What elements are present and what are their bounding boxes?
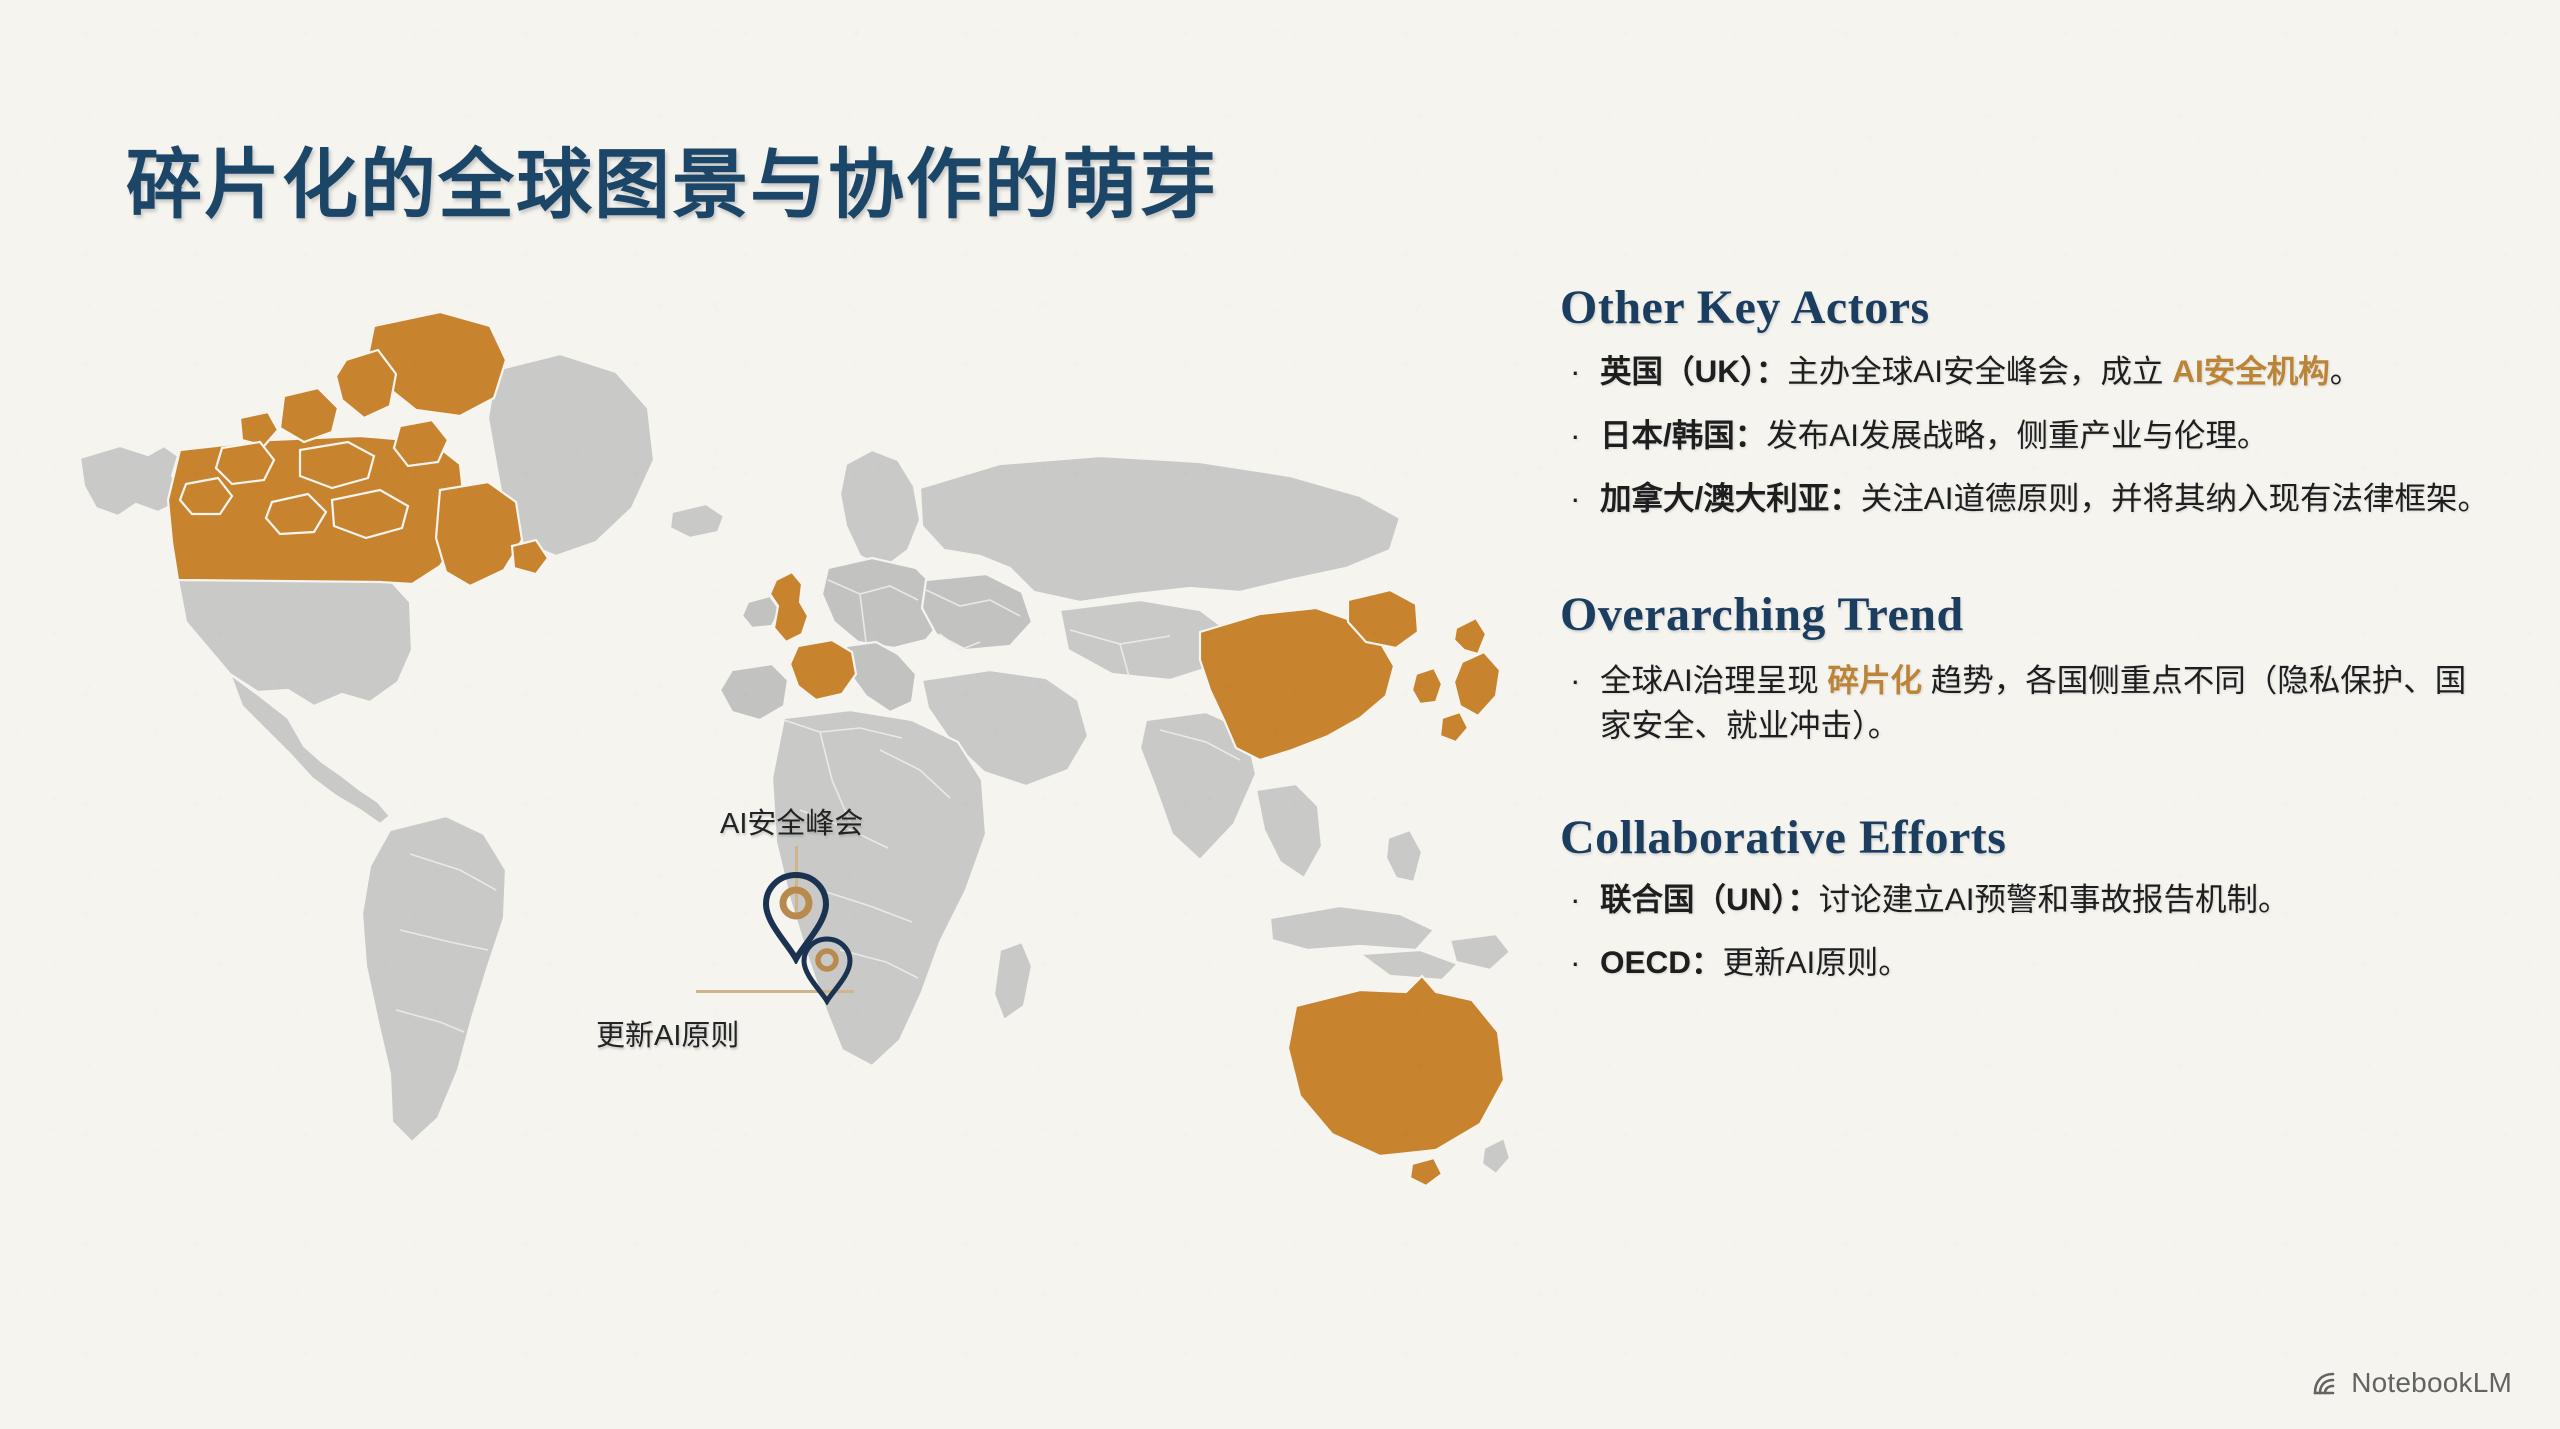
- list-item: · 加拿大/澳大利亚：关注AI道德原则，并将其纳入现有法律框架。: [1560, 476, 2490, 521]
- map-pin-france-icon[interactable]: [800, 935, 854, 1005]
- list-item: · 英国（UK）：主办全球AI安全峰会，成立 AI安全机构。: [1560, 349, 2490, 394]
- bullet-lead: 英国（UK）：: [1600, 353, 1787, 389]
- list-item: · 日本/韩国：发布AI发展战略，侧重产业与伦理。: [1560, 413, 2490, 458]
- list-item: · 全球AI治理呈现 碎片化 趋势，各国侧重点不同（隐私保护、国家安全、就业冲击…: [1560, 658, 2490, 747]
- bullet-body: 发布AI发展战略，侧重产业与伦理。: [1766, 417, 2268, 453]
- section-collaborative-efforts: Collaborative Efforts · 联合国（UN）：讨论建立AI预警…: [1560, 810, 2490, 985]
- bullet-body: 讨论建立AI预警和事故报告机制。: [1819, 881, 2290, 917]
- watermark-label: NotebookLM: [2351, 1367, 2512, 1399]
- content-panel: Other Key Actors · 英国（UK）：主办全球AI安全峰会，成立 …: [1560, 280, 2490, 985]
- bullet-dot: ·: [1570, 476, 1581, 521]
- page-title: 碎片化的全球图景与协作的萌芽: [126, 123, 1218, 233]
- bullet-lead: 日本/韩国：: [1600, 417, 1766, 453]
- bullet-highlight: 碎片化: [1828, 662, 1923, 698]
- bullet-body: 全球AI治理呈现: [1600, 662, 1828, 698]
- slide-canvas: 碎片化的全球图景与协作的萌芽: [0, 0, 2560, 1429]
- map-label-update-ai-principles: 更新AI原则: [596, 1012, 739, 1054]
- section-heading: Overarching Trend: [1560, 587, 2490, 642]
- section-heading: Other Key Actors: [1560, 280, 2490, 335]
- bullet-dot: ·: [1570, 413, 1581, 458]
- section-other-key-actors: Other Key Actors · 英国（UK）：主办全球AI安全峰会，成立 …: [1560, 280, 2490, 521]
- bullet-body: 更新AI原则。: [1723, 944, 1910, 980]
- bullet-dot: ·: [1570, 877, 1581, 922]
- section-overarching-trend: Overarching Trend · 全球AI治理呈现 碎片化 趋势，各国侧重…: [1560, 587, 2490, 747]
- bullet-lead: 联合国（UN）：: [1600, 881, 1819, 917]
- bullet-body: 关注AI道德原则，并将其纳入现有法律框架。: [1861, 480, 2489, 516]
- notebooklm-spiral-icon: [2311, 1368, 2341, 1398]
- bullet-list: · 全球AI治理呈现 碎片化 趋势，各国侧重点不同（隐私保护、国家安全、就业冲击…: [1560, 658, 2490, 747]
- bullet-body: 主办全球AI安全峰会，成立: [1787, 353, 2172, 389]
- bullet-lead: OECD：: [1600, 944, 1723, 980]
- bullet-tail: 。: [2330, 353, 2362, 389]
- bullet-list: · 联合国（UN）：讨论建立AI预警和事故报告机制。 · OECD：更新AI原则…: [1560, 877, 2490, 985]
- bullet-highlight: AI安全机构: [2172, 353, 2330, 389]
- list-item: · 联合国（UN）：讨论建立AI预警和事故报告机制。: [1560, 877, 2490, 922]
- world-map: AI安全峰会 更新AI原则: [60, 250, 1510, 1250]
- world-map-svg: [60, 250, 1510, 1250]
- section-heading: Collaborative Efforts: [1560, 810, 2490, 865]
- list-item: · OECD：更新AI原则。: [1560, 940, 2490, 985]
- map-label-ai-safety-summit: AI安全峰会: [720, 800, 863, 842]
- bullet-list: · 英国（UK）：主办全球AI安全峰会，成立 AI安全机构。 · 日本/韩国：发…: [1560, 349, 2490, 521]
- notebooklm-watermark: NotebookLM: [2311, 1367, 2512, 1399]
- bullet-lead: 加拿大/澳大利亚：: [1600, 480, 1861, 516]
- bullet-dot: ·: [1570, 349, 1581, 394]
- bullet-dot: ·: [1570, 940, 1581, 985]
- bullet-dot: ·: [1570, 658, 1581, 703]
